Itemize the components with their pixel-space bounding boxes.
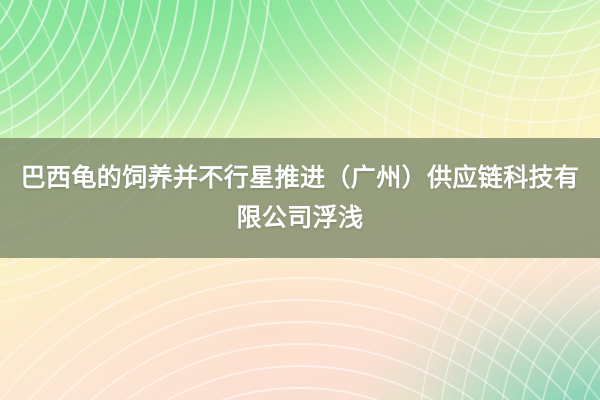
decorative-banner-image: 巴西龟的饲养并不行星推进（广州）供应链科技有限公司浮浅 <box>0 0 600 400</box>
caption-band: 巴西龟的饲养并不行星推进（广州）供应链科技有限公司浮浅 <box>0 138 600 258</box>
banner-caption-text: 巴西龟的饲养并不行星推进（广州）供应链科技有限公司浮浅 <box>9 158 591 238</box>
